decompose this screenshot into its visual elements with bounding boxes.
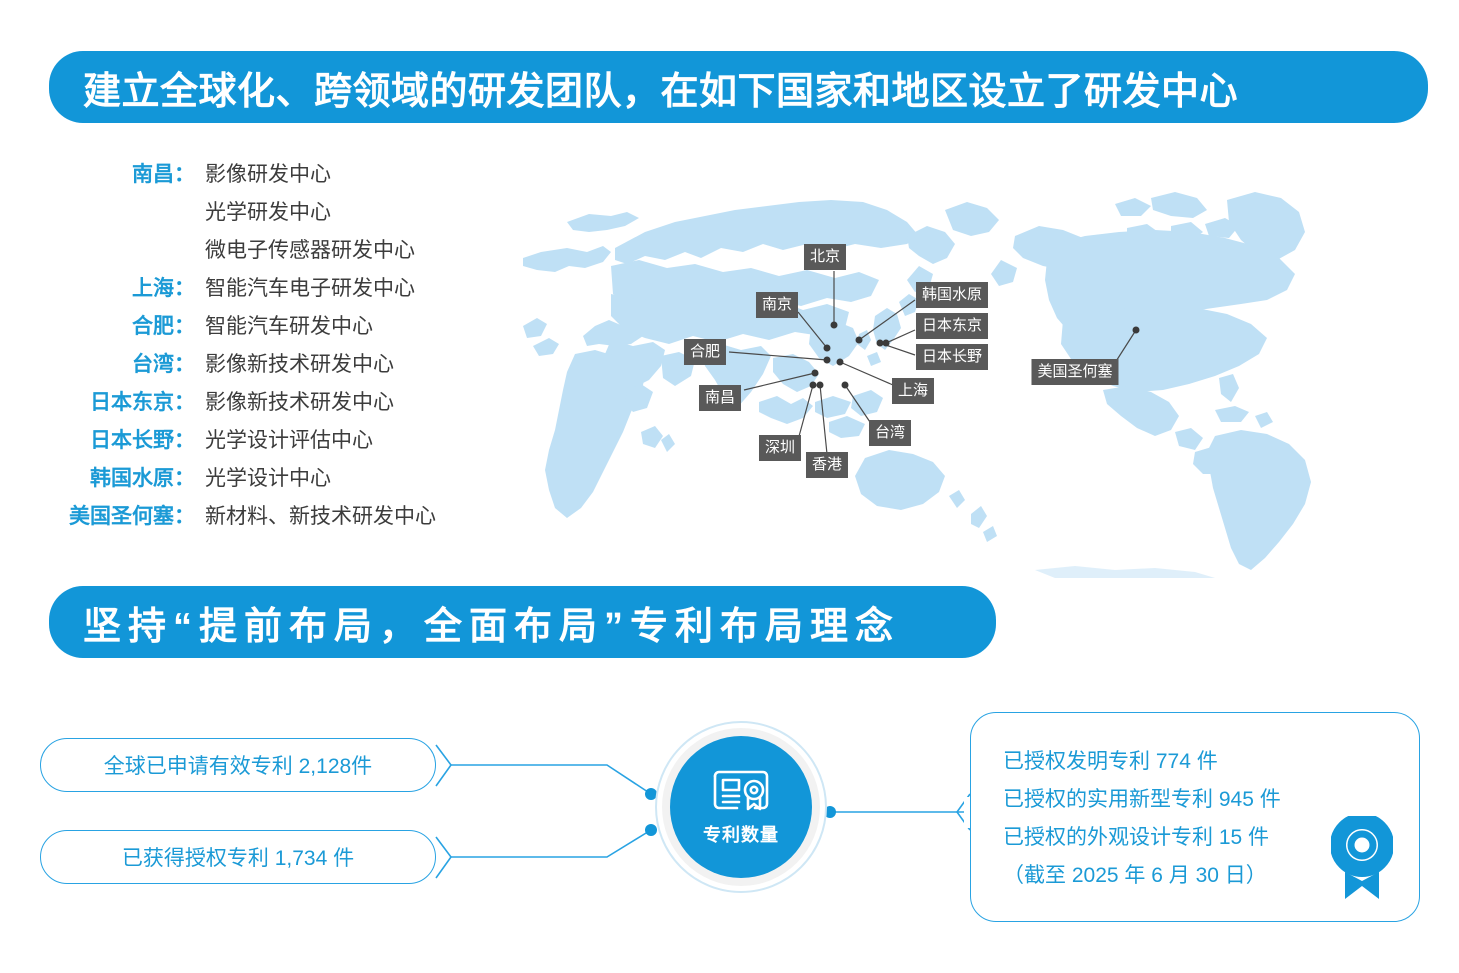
- certificate-icon: [710, 768, 772, 817]
- rd-center-desc: 影像新技术研发中心: [195, 348, 394, 378]
- list-item: 美国圣何塞： 新材料、新技术研发中心: [40, 500, 510, 538]
- patent-details-list: 已授权发明专利 774 件 已授权的实用新型专利 945 件 已授权的外观设计专…: [1003, 743, 1281, 895]
- map-label-overlay: 北京南京合肥南昌深圳香港台湾上海韩国水原日本东京日本长野美国圣何塞: [515, 140, 1395, 580]
- rd-center-desc: 光学设计中心: [195, 462, 331, 492]
- rd-city-label: 韩国水原：: [40, 462, 195, 492]
- rd-center-desc: 光学研发中心: [195, 196, 331, 226]
- map-label-taiwan: 台湾: [869, 420, 911, 446]
- map-label-nanjing: 南京: [756, 292, 798, 318]
- map-dot-suwon: [856, 337, 863, 344]
- map-dot-sanjose: [1133, 327, 1140, 334]
- list-item: 日本东京： 影像新技术研发中心: [40, 386, 510, 424]
- map-dot-shanghai: [837, 359, 844, 366]
- map-label-hongkong: 香港: [806, 452, 848, 478]
- patent-details-card: 已授权发明专利 774 件 已授权的实用新型专利 945 件 已授权的外观设计专…: [970, 712, 1420, 922]
- rd-center-desc: 影像新技术研发中心: [195, 386, 394, 416]
- rd-center-desc: 影像研发中心: [195, 158, 331, 188]
- patent-total-text: 全球已申请有效专利 2,128件: [104, 750, 372, 780]
- list-item: 日本长野： 光学设计评估中心: [40, 424, 510, 462]
- map-label-nanchang: 南昌: [699, 385, 741, 411]
- rd-city-label: 日本长野：: [40, 424, 195, 454]
- map-dot-hongkong: [817, 382, 824, 389]
- list-item: 上海： 智能汽车电子研发中心: [40, 272, 510, 310]
- list-item: 南昌： 影像研发中心: [40, 158, 510, 196]
- map-label-hefei: 合肥: [684, 339, 726, 365]
- map-label-suwon: 韩国水原: [916, 282, 988, 308]
- patent-granted-pill: 已获得授权专利 1,734 件: [40, 830, 436, 884]
- banner-rd-team-text: 建立全球化、跨领域的研发团队，在如下国家和地区设立了研发中心: [49, 60, 1238, 115]
- banner-rd-team: 建立全球化、跨领域的研发团队，在如下国家和地区设立了研发中心: [49, 51, 1428, 123]
- rd-center-desc: 智能汽车研发中心: [195, 310, 373, 340]
- map-dot-shenzhen: [810, 382, 817, 389]
- list-item: 已授权发明专利 774 件: [1003, 743, 1281, 781]
- list-item: 光学研发中心: [40, 196, 510, 234]
- list-item: 微电子传感器研发中心: [40, 234, 510, 272]
- patent-granted-text: 已获得授权专利 1,734 件: [122, 842, 354, 872]
- patent-total-pill: 全球已申请有效专利 2,128件: [40, 738, 436, 792]
- rd-center-desc: 智能汽车电子研发中心: [195, 272, 415, 302]
- rd-center-desc: 新材料、新技术研发中心: [195, 500, 436, 530]
- map-label-sanjose: 美国圣何塞: [1031, 359, 1118, 385]
- map-label-shanghai: 上海: [892, 378, 934, 404]
- map-dot-tokyo: [883, 340, 890, 347]
- map-label-nagano: 日本长野: [916, 344, 988, 370]
- list-item: 台湾： 影像新技术研发中心: [40, 348, 510, 386]
- map-dot-nanjing: [824, 345, 831, 352]
- map-label-tokyo: 日本东京: [916, 313, 988, 339]
- world-map: 北京南京合肥南昌深圳香港台湾上海韩国水原日本东京日本长野美国圣何塞: [515, 140, 1395, 580]
- rd-center-list: 南昌： 影像研发中心 光学研发中心 微电子传感器研发中心 上海： 智能汽车电子研…: [40, 158, 510, 538]
- map-label-beijing: 北京: [804, 244, 846, 270]
- award-ribbon-icon: [1331, 816, 1393, 905]
- list-item: （截至 2025 年 6 月 30 日）: [1003, 857, 1281, 895]
- list-item: 已授权的外观设计专利 15 件: [1003, 819, 1281, 857]
- patent-count-circle: 专利数量: [670, 736, 812, 878]
- banner-patent-strategy-text: 坚持“提前布局，全面布局”专利布局理念: [49, 595, 900, 650]
- list-item: 已授权的实用新型专利 945 件: [1003, 781, 1281, 819]
- rd-center-desc: 微电子传感器研发中心: [195, 234, 415, 264]
- rd-city-label: 台湾：: [40, 348, 195, 378]
- rd-center-desc: 光学设计评估中心: [195, 424, 373, 454]
- map-dot-hefei: [824, 357, 831, 364]
- list-item: 合肥： 智能汽车研发中心: [40, 310, 510, 348]
- map-dot-beijing: [831, 322, 838, 329]
- rd-city-label: 美国圣何塞：: [40, 500, 195, 530]
- rd-city-label: 南昌：: [40, 158, 195, 188]
- rd-city-label: 上海：: [40, 272, 195, 302]
- map-label-shenzhen: 深圳: [759, 435, 801, 461]
- map-dot-nanchang: [812, 370, 819, 377]
- banner-patent-strategy: 坚持“提前布局，全面布局”专利布局理念: [49, 586, 996, 658]
- list-item: 韩国水原： 光学设计中心: [40, 462, 510, 500]
- rd-city-label: 合肥：: [40, 310, 195, 340]
- connector-node-bottom: [645, 824, 657, 836]
- map-dot-nagano: [877, 340, 884, 347]
- patent-summary-section: 全球已申请有效专利 2,128件 已获得授权专利 1,734 件 专利数量 已授…: [0, 690, 1459, 973]
- rd-city-label: 日本东京：: [40, 386, 195, 416]
- patent-count-label: 专利数量: [703, 821, 779, 847]
- map-dot-taiwan: [842, 382, 849, 389]
